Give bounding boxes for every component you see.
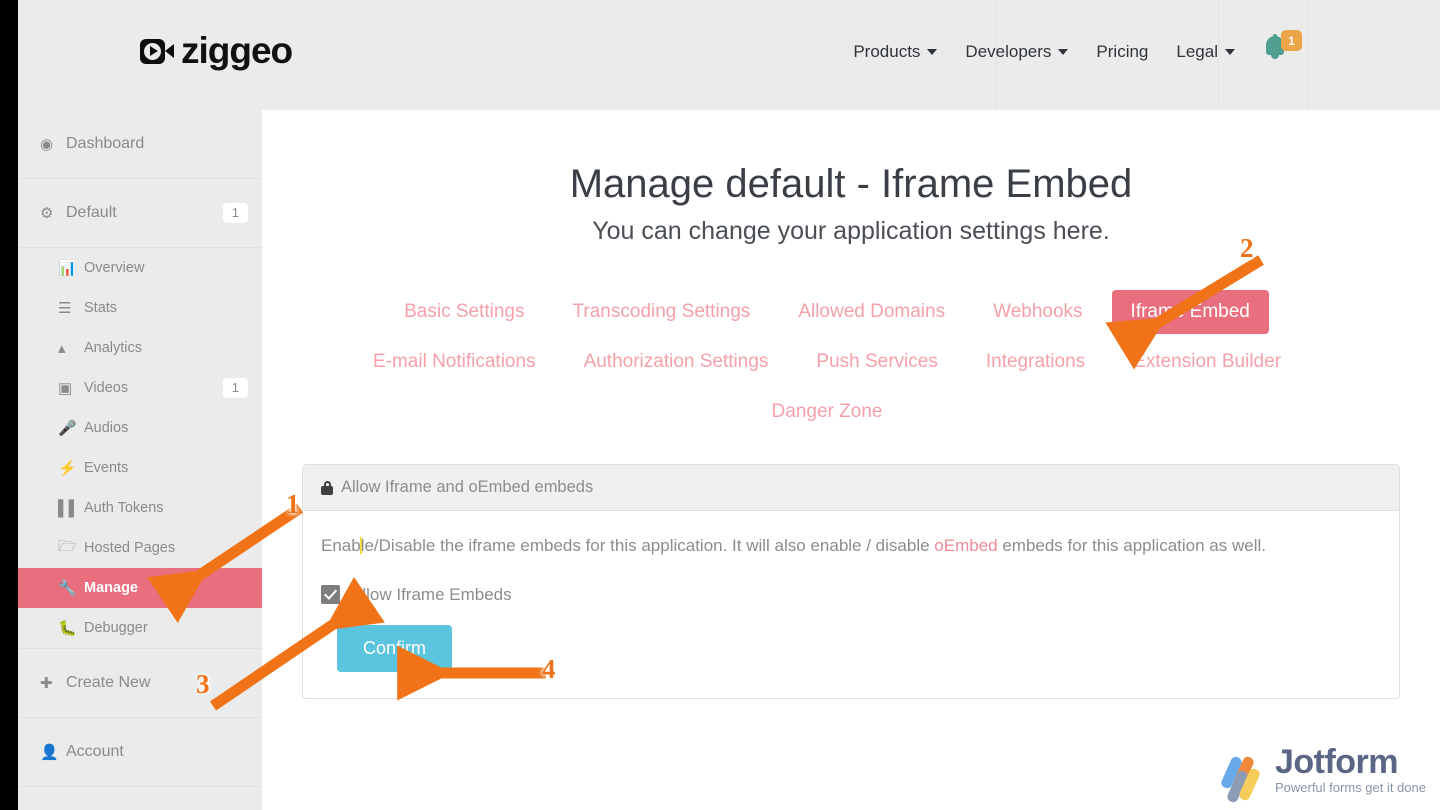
oembed-link[interactable]: oEmbed — [934, 536, 997, 555]
notifications-button[interactable]: 1 — [1264, 30, 1310, 66]
sidebar-item-label: Auth Tokens — [84, 500, 164, 516]
sidebar-badge: 1 — [223, 203, 248, 223]
sidebar-item-label: Hosted Pages — [84, 540, 175, 556]
tab-allowed-domains[interactable]: Allowed Domains — [779, 290, 964, 334]
bolt-icon: ⚡ — [58, 459, 84, 477]
sidebar-item-debugger[interactable]: 🐛 Debugger — [18, 608, 262, 648]
nav-label: Legal — [1176, 42, 1218, 62]
allow-iframe-embeds-label: Allow Iframe Embeds — [351, 585, 512, 605]
main-nav: Products Developers Pricing Legal — [853, 42, 1235, 62]
sidebar-item-account[interactable]: 👤 Account — [18, 718, 262, 786]
sidebar-item-label: Analytics — [84, 340, 142, 356]
nav-label: Developers — [965, 42, 1051, 62]
sidebar-item-label: Audios — [84, 420, 128, 436]
nav-label: Products — [853, 42, 920, 62]
bug-icon: 🐛 — [58, 619, 84, 637]
annotation-number-3: 3 — [196, 669, 210, 700]
sidebar: ◉ Dashboard ⚙ Default 1 📊 Overview ☰ Sta… — [18, 110, 262, 810]
sidebar-item-auth-tokens[interactable]: ▌▌ Auth Tokens — [18, 488, 262, 528]
gear-icon: ⚙ — [40, 204, 66, 222]
nav-item-developers[interactable]: Developers — [965, 42, 1068, 62]
ziggeo-logo[interactable]: ziggeo — [140, 32, 292, 69]
annotation-number-4: 4 — [542, 654, 556, 685]
barcode-icon: ▌▌ — [58, 500, 84, 517]
panel-body: Enable/Disable the iframe embeds for thi… — [303, 511, 1399, 698]
description-part1: Enab — [321, 536, 361, 555]
sidebar-item-label: Create New — [66, 674, 150, 692]
tab-webhooks[interactable]: Webhooks — [974, 290, 1101, 334]
chevron-down-icon — [927, 49, 937, 55]
allow-iframe-embeds-row: Allow Iframe Embeds — [321, 585, 1381, 605]
sidebar-item-videos[interactable]: ▣ Videos 1 — [18, 368, 262, 408]
chevron-down-icon — [1225, 49, 1235, 55]
sidebar-item-hosted-pages[interactable]: 🗁 Hosted Pages — [18, 528, 262, 568]
settings-tabs: Basic Settings Transcoding Settings Allo… — [262, 290, 1392, 434]
folder-icon: 🗁 — [58, 536, 84, 561]
area-chart-icon: ▴ — [58, 339, 84, 357]
logo-text: ziggeo — [181, 32, 292, 69]
sidebar-item-label: Debugger — [84, 620, 148, 636]
sidebar-item-events[interactable]: ⚡ Events — [18, 448, 262, 488]
jotform-tagline: Powerful forms get it done — [1275, 781, 1426, 794]
nav-item-legal[interactable]: Legal — [1176, 42, 1235, 62]
panel-header: Allow Iframe and oEmbed embeds — [303, 465, 1399, 511]
tab-integrations[interactable]: Integrations — [967, 340, 1104, 384]
tab-basic-settings[interactable]: Basic Settings — [385, 290, 543, 334]
sidebar-item-overview[interactable]: 📊 Overview — [18, 248, 262, 288]
wrench-icon: 🔧 — [58, 579, 84, 597]
sidebar-item-create-new[interactable]: ✚ Create New — [18, 649, 262, 717]
sidebar-item-label: Default — [66, 204, 117, 222]
tab-transcoding-settings[interactable]: Transcoding Settings — [554, 290, 770, 334]
sidebar-item-manage[interactable]: 🔧 Manage — [18, 568, 262, 608]
iframe-embed-panel: Allow Iframe and oEmbed embeds Enable/Di… — [302, 464, 1400, 699]
description-part3: embeds for this application as well. — [998, 536, 1266, 555]
nav-item-pricing[interactable]: Pricing — [1096, 42, 1148, 62]
tab-extension-builder[interactable]: Extension Builder — [1114, 340, 1300, 384]
sidebar-item-label: Account — [66, 743, 124, 761]
annotation-number-2: 2 — [1240, 233, 1254, 264]
plus-icon: ✚ — [40, 674, 66, 692]
tab-danger-zone[interactable]: Danger Zone — [753, 390, 902, 434]
page-subtitle: You can change your application settings… — [262, 217, 1440, 246]
annotation-number-1: 1 — [286, 489, 300, 520]
lock-icon — [321, 481, 333, 495]
nav-label: Pricing — [1096, 42, 1148, 62]
sidebar-item-label: Manage — [84, 580, 138, 596]
chevron-down-icon — [1058, 49, 1068, 55]
video-camera-icon: ▣ — [58, 379, 84, 397]
sidebar-item-label: Videos — [84, 380, 128, 396]
sidebar-item-analytics[interactable]: ▴ Analytics — [18, 328, 262, 368]
gauge-icon: ◉ — [40, 135, 66, 153]
nav-item-products[interactable]: Products — [853, 42, 937, 62]
allow-iframe-embeds-checkbox[interactable] — [321, 585, 340, 604]
bar-chart-icon: 📊 — [58, 259, 84, 277]
main-content: Manage default - Iframe Embed You can ch… — [262, 110, 1440, 810]
user-icon: 👤 — [40, 743, 66, 761]
microphone-icon: 🎤 — [58, 419, 84, 437]
sidebar-item-label: Dashboard — [66, 135, 144, 153]
notification-badge: 1 — [1281, 30, 1302, 51]
confirm-button[interactable]: Confirm — [337, 625, 452, 672]
description-part2: le/Disable the iframe embeds for this ap… — [361, 536, 935, 555]
sidebar-badge: 1 — [223, 378, 248, 398]
sidebar-item-default[interactable]: ⚙ Default 1 — [18, 179, 262, 247]
sidebar-divider — [18, 786, 262, 787]
tab-push-services[interactable]: Push Services — [797, 340, 956, 384]
sidebar-item-audios[interactable]: 🎤 Audios — [18, 408, 262, 448]
tab-iframe-embed[interactable]: Iframe Embed — [1112, 290, 1269, 334]
tab-authorization-settings[interactable]: Authorization Settings — [565, 340, 788, 384]
panel-header-label: Allow Iframe and oEmbed embeds — [341, 478, 593, 497]
sidebar-item-label: Overview — [84, 260, 144, 276]
jotform-mark-icon — [1223, 754, 1267, 794]
sidebar-item-label: Events — [84, 460, 128, 476]
sidebar-item-dashboard[interactable]: ◉ Dashboard — [18, 110, 262, 178]
page-title: Manage default - Iframe Embed — [262, 162, 1440, 207]
panel-description: Enable/Disable the iframe embeds for thi… — [321, 533, 1381, 559]
jotform-text: Jotform Powerful forms get it done — [1275, 745, 1426, 794]
sidebar-item-stats[interactable]: ☰ Stats — [18, 288, 262, 328]
jotform-logo: Jotform Powerful forms get it done — [1223, 745, 1426, 794]
app-page: ziggeo Products Developers Pricing Legal — [18, 0, 1440, 810]
sidebar-item-label: Stats — [84, 300, 117, 316]
list-icon: ☰ — [58, 299, 84, 317]
ziggeo-video-icon — [140, 38, 174, 64]
tab-email-notifications[interactable]: E-mail Notifications — [354, 340, 555, 384]
jotform-brand-name: Jotform — [1275, 745, 1426, 779]
top-navigation-bar: ziggeo Products Developers Pricing Legal — [18, 0, 1440, 110]
